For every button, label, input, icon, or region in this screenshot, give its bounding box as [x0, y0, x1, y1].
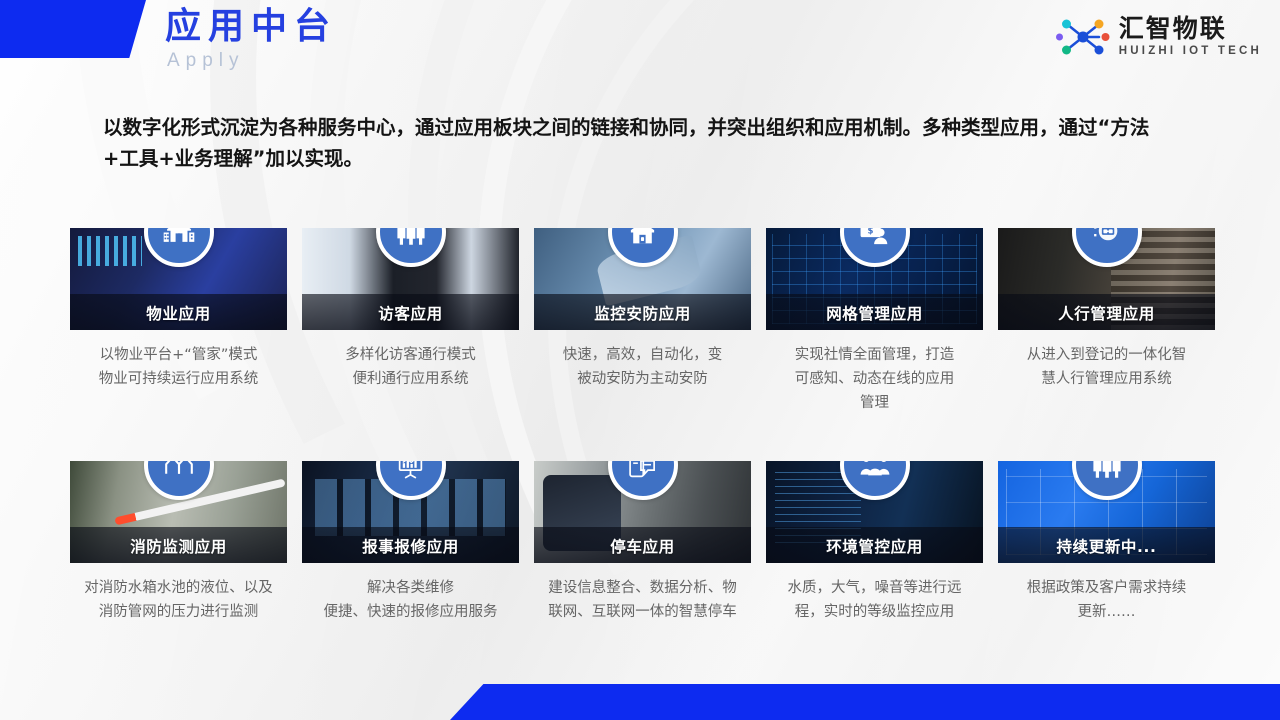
card-row: 消防监测应用对消防水箱水池的液位、以及消防管网的压力进行监测报事报修应用解决各类… — [70, 461, 1215, 624]
application-card[interactable]: 停车应用建设信息整合、数据分析、物联网、互联网一体的智慧停车 — [534, 461, 751, 624]
card-row: 物业应用以物业平台+“管家”模式物业可持续运行应用系统访客应用多样化访客通行模式… — [70, 228, 1215, 415]
application-card[interactable]: 消防监测应用对消防水箱水池的液位、以及消防管网的压力进行监测 — [70, 461, 287, 624]
card-label: 监控安防应用 — [534, 302, 751, 324]
card-caption: 根据政策及客户需求持续更新…… — [998, 576, 1215, 624]
card-label: 环境管控应用 — [766, 535, 983, 557]
logo-name-en: HUIZHI IOT TECH — [1119, 46, 1262, 58]
card-label: 消防监测应用 — [70, 535, 287, 557]
card-thumbnail[interactable]: 监控安防应用 — [534, 228, 751, 330]
card-thumbnail[interactable]: 网格管理应用$ — [766, 228, 983, 330]
card-thumbnail[interactable]: 停车应用 — [534, 461, 751, 563]
card-thumbnail[interactable]: 报事报修应用 — [302, 461, 519, 563]
card-caption: 多样化访客通行模式便利通行应用系统 — [302, 343, 519, 391]
application-card[interactable]: 网格管理应用$实现社情全面管理，打造可感知、动态在线的应用管理 — [766, 228, 983, 415]
card-label: 报事报修应用 — [302, 535, 519, 557]
card-label: 停车应用 — [534, 535, 751, 557]
application-card[interactable]: 环境管控应用水质，大气，噪音等进行远程，实时的等级监控应用 — [766, 461, 983, 624]
card-caption: 对消防水箱水池的液位、以及消防管网的压力进行监测 — [70, 576, 287, 624]
logo-name-cn: 汇智物联 — [1119, 16, 1262, 41]
page-title: 应用中台 — [165, 6, 337, 48]
card-thumbnail[interactable]: 消防监测应用 — [70, 461, 287, 563]
page-subtitle: Apply — [167, 50, 245, 72]
application-card[interactable]: 访客应用多样化访客通行模式便利通行应用系统 — [302, 228, 519, 415]
card-thumbnail[interactable]: 环境管控应用 — [766, 461, 983, 563]
card-caption: 以物业平台+“管家”模式物业可持续运行应用系统 — [70, 343, 287, 391]
card-thumbnail[interactable]: 人行管理应用 — [998, 228, 1215, 330]
application-card[interactable]: 人行管理应用从进入到登记的一体化智慧人行管理应用系统 — [998, 228, 1215, 415]
application-card[interactable]: 持续更新中...根据政策及客户需求持续更新…… — [998, 461, 1215, 624]
card-caption: 水质，大气，噪音等进行远程，实时的等级监控应用 — [766, 576, 983, 624]
intro-paragraph: 以数字化形式沉淀为各种服务中心，通过应用板块之间的链接和协同，并突出组织和应用机… — [103, 112, 1178, 174]
card-caption: 实现社情全面管理，打造可感知、动态在线的应用管理 — [766, 343, 983, 415]
application-card[interactable]: 报事报修应用解决各类维修便捷、快速的报修应用服务 — [302, 461, 519, 624]
slide-root: 应用中台 Apply 汇智物联 HUIZHI IOT TECH — [0, 0, 1280, 720]
molecule-network-icon — [1056, 14, 1110, 60]
svg-text:$: $ — [868, 228, 874, 236]
application-card[interactable]: 物业应用以物业平台+“管家”模式物业可持续运行应用系统 — [70, 228, 287, 415]
card-thumbnail[interactable]: 访客应用 — [302, 228, 519, 330]
card-caption: 快速，高效，自动化，变被动安防为主动安防 — [534, 343, 751, 391]
card-label: 访客应用 — [302, 302, 519, 324]
card-thumbnail[interactable]: 物业应用 — [70, 228, 287, 330]
card-label: 物业应用 — [70, 302, 287, 324]
card-label: 持续更新中... — [998, 535, 1215, 557]
footer-accent-shape — [450, 684, 1280, 720]
card-caption: 从进入到登记的一体化智慧人行管理应用系统 — [998, 343, 1215, 391]
header-accent-shape — [0, 0, 146, 58]
card-label: 人行管理应用 — [998, 302, 1215, 324]
brand-logo: 汇智物联 HUIZHI IOT TECH — [1056, 14, 1262, 60]
card-caption: 建设信息整合、数据分析、物联网、互联网一体的智慧停车 — [534, 576, 751, 624]
application-card[interactable]: 监控安防应用快速，高效，自动化，变被动安防为主动安防 — [534, 228, 751, 415]
application-card-grid: 物业应用以物业平台+“管家”模式物业可持续运行应用系统访客应用多样化访客通行模式… — [70, 228, 1215, 624]
card-caption: 解决各类维修便捷、快速的报修应用服务 — [302, 576, 519, 624]
card-thumbnail[interactable]: 持续更新中... — [998, 461, 1215, 563]
card-label: 网格管理应用 — [766, 302, 983, 324]
